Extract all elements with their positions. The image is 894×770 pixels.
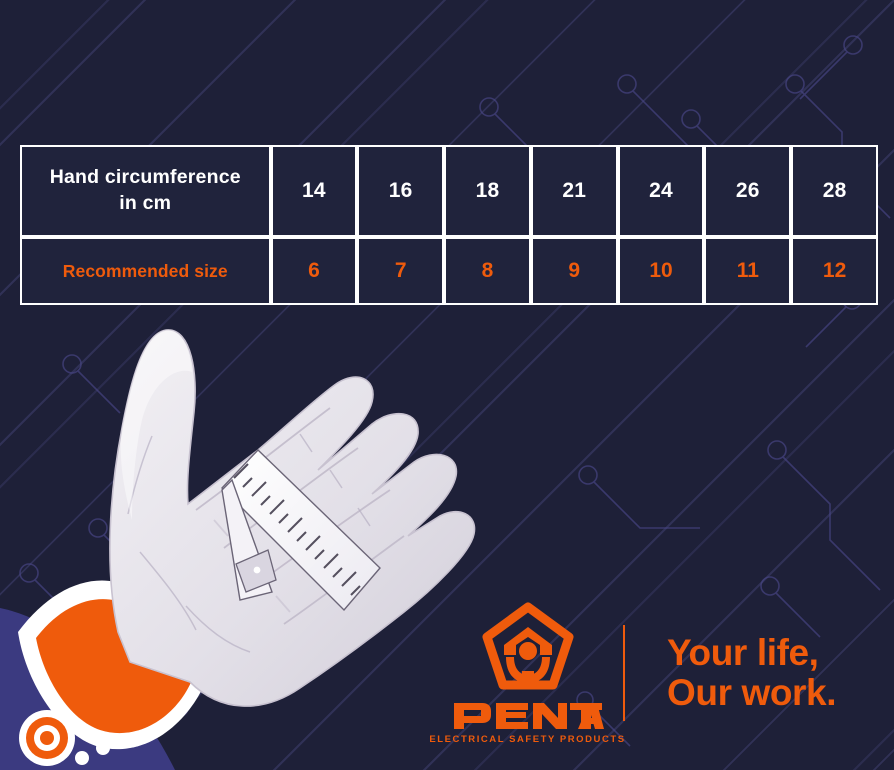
cell-size-1: 6 — [271, 237, 358, 305]
table-row-recommended-size: Recommended size 6 7 8 9 10 11 12 — [20, 237, 878, 305]
cell-circumference-1: 14 — [271, 145, 358, 237]
table-row-circumference: Hand circumference in cm 14 16 18 21 24 … — [20, 145, 878, 237]
row-header-circumference-line1: Hand circumference — [50, 166, 241, 188]
row-header-circumference: Hand circumference in cm — [20, 145, 271, 237]
cell-size-7: 12 — [791, 237, 878, 305]
brand-slogan: Your life, Our work. — [667, 633, 836, 713]
row-header-recommended-size: Recommended size — [20, 237, 271, 305]
cell-size-6: 11 — [704, 237, 791, 305]
cell-size-2: 7 — [357, 237, 444, 305]
glove-size-chart-page: Hand circumference in cm 14 16 18 21 24 … — [0, 0, 894, 770]
slogan-line-2: Our work. — [667, 673, 836, 713]
penta-pentagon-icon — [480, 601, 576, 693]
cell-circumference-4: 21 — [531, 145, 618, 237]
cell-circumference-6: 26 — [704, 145, 791, 237]
cell-circumference-3: 18 — [444, 145, 531, 237]
penta-wordmark — [452, 695, 604, 731]
penta-tagline: ELECTRICAL SAFETY PRODUCTS — [429, 734, 625, 745]
penta-logo: ELECTRICAL SAFETY PRODUCTS — [440, 601, 615, 745]
glove-size-table: Hand circumference in cm 14 16 18 21 24 … — [20, 145, 878, 305]
cell-size-4: 9 — [531, 237, 618, 305]
slogan-line-1: Your life, — [667, 633, 836, 673]
brand-block: ELECTRICAL SAFETY PRODUCTS Your life, Ou… — [440, 598, 870, 748]
cell-circumference-5: 24 — [618, 145, 705, 237]
cell-circumference-7: 28 — [791, 145, 878, 237]
cell-size-5: 10 — [618, 237, 705, 305]
cell-size-3: 8 — [444, 237, 531, 305]
row-header-circumference-line2: in cm — [119, 192, 171, 214]
cell-circumference-2: 16 — [357, 145, 444, 237]
brand-divider — [623, 625, 625, 721]
